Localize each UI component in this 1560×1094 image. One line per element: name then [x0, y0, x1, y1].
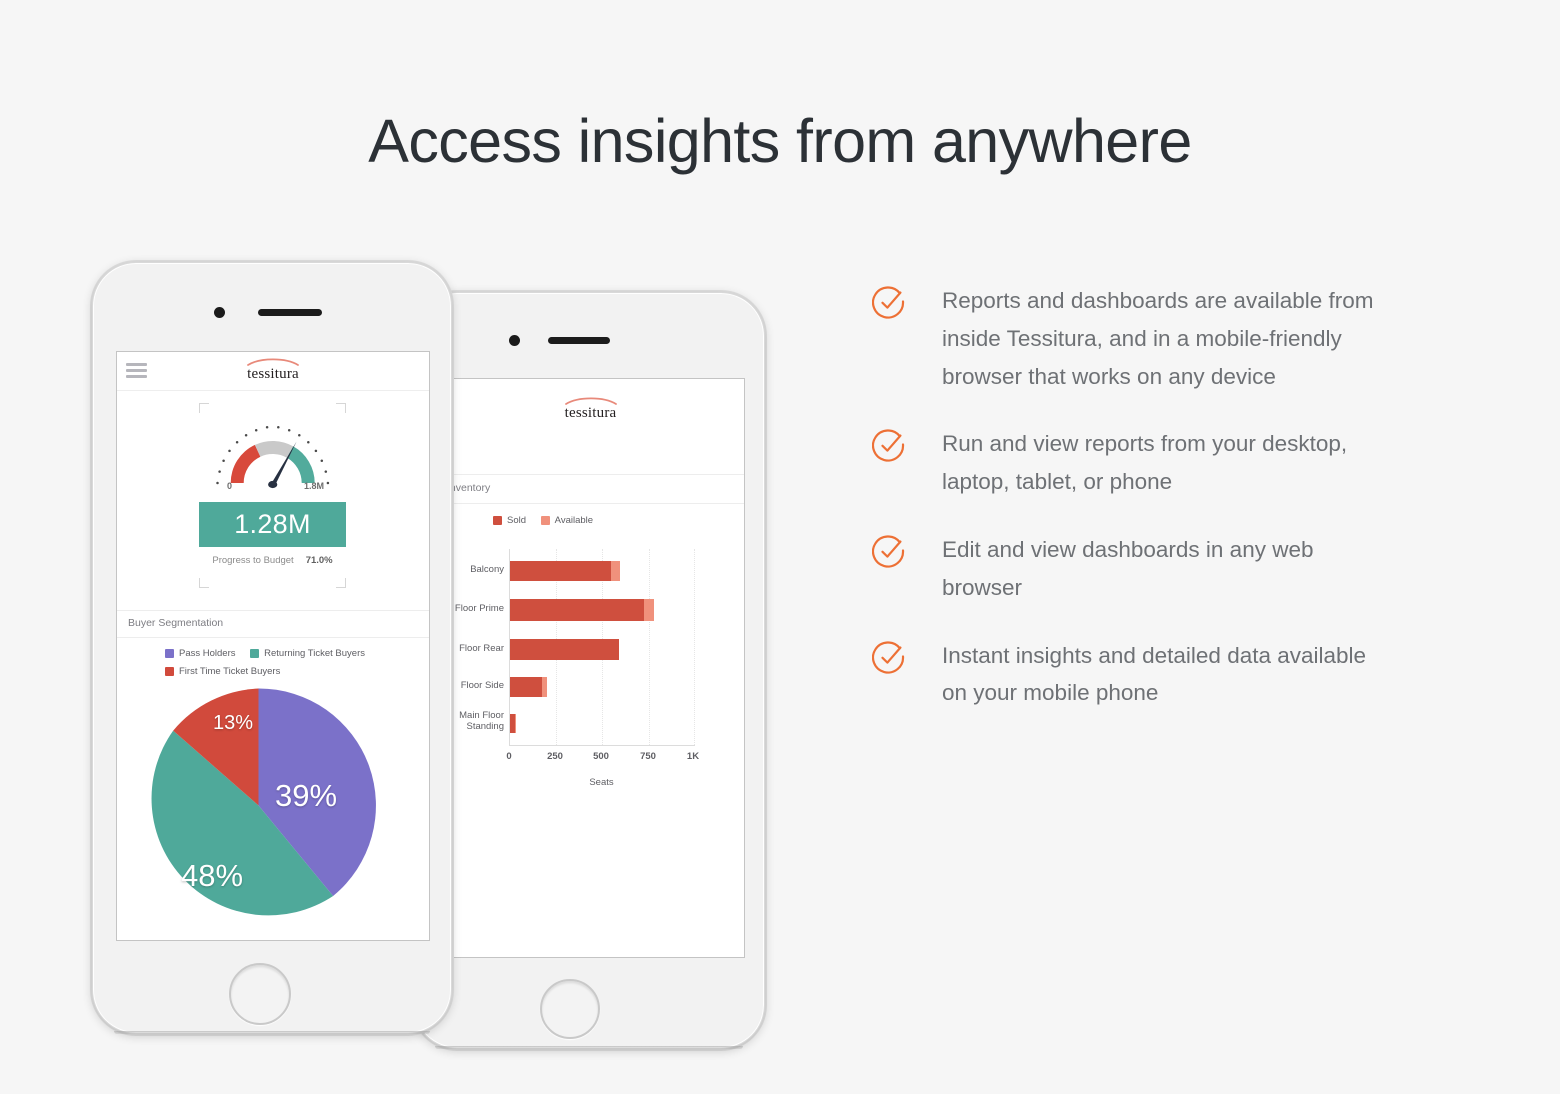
check-circle-icon — [872, 535, 908, 574]
legend-swatch-pass-holders — [165, 649, 174, 658]
bar-seg-floor-side-available — [542, 677, 547, 697]
earpiece-speaker-icon — [548, 337, 610, 344]
segmentation-panel-title: Buyer Segmentation — [128, 617, 223, 629]
kpi-gauge-card[interactable]: 0 1.8M 1.28M Progress to Budget 71.0% — [199, 403, 346, 588]
bar-seg-balcony-sold — [510, 561, 611, 581]
inventory-panel-title: Inventory — [447, 482, 490, 494]
legend-item-pass-holders: Pass Holders — [165, 646, 236, 662]
legend-item-returning-ticket-buyers: Returning Ticket Buyers — [250, 646, 365, 662]
buyer-segmentation-pie-chart: 39% 48% 13% — [141, 688, 376, 923]
bar-seg-floor-rear-sold — [510, 639, 619, 660]
bar-row-balcony: Balcony — [510, 561, 620, 581]
bar-chart-legend: Sold Available — [493, 515, 605, 528]
x-tick-750: 750 — [640, 751, 656, 762]
list-item: Reports and dashboards are available fro… — [872, 282, 1392, 395]
brand-logo-text-back: tessitura — [565, 405, 617, 421]
legend-swatch-sold — [493, 516, 502, 525]
list-item: Edit and view dashboards in any web brow… — [872, 531, 1392, 607]
inventory-panel-header: Inventory — [437, 474, 744, 504]
legend-item-sold: Sold — [493, 515, 526, 526]
app-top-bar: tessitura — [117, 352, 429, 391]
bar-label-floor-side: Floor Side — [461, 681, 504, 692]
feature-bullet-list: Reports and dashboards are available fro… — [872, 282, 1392, 742]
legend-swatch-available — [541, 516, 550, 525]
x-tick-500: 500 — [593, 751, 609, 762]
pie-chart-legend: Pass Holders Returning Ticket Buyers Fir… — [165, 646, 415, 682]
phone-device-front: tessitura — [92, 262, 452, 1034]
card-corner-bottom-left — [199, 578, 209, 588]
legend-label-returning-ticket-buyers: Returning Ticket Buyers — [264, 646, 365, 662]
phone-device-back: tessitura Inventory Sold Available — [413, 292, 765, 1049]
check-circle-icon — [872, 641, 908, 680]
pie-svg — [141, 688, 376, 923]
home-button-back[interactable] — [540, 979, 600, 1039]
gridline-750 — [649, 549, 651, 745]
bar-seg-floor-side-sold — [510, 677, 542, 697]
home-button-front[interactable] — [229, 963, 291, 1025]
bar-seg-balcony-available — [611, 561, 620, 581]
bar-row-floor-prime: Floor Prime — [510, 599, 654, 621]
list-item: Instant insights and detailed data avail… — [872, 637, 1392, 713]
legend-label-pass-holders: Pass Holders — [179, 646, 236, 662]
card-corner-bottom-right — [336, 578, 346, 588]
legend-swatch-returning-ticket-buyers — [250, 649, 259, 658]
x-axis-title: Seats — [509, 777, 694, 788]
phone-screen-back: tessitura Inventory Sold Available — [436, 378, 745, 958]
legend-item-available: Available — [541, 515, 593, 526]
list-item-label: Run and view reports from your desktop, … — [942, 425, 1392, 501]
x-tick-0: 0 — [506, 751, 511, 762]
bar-label-floor-rear: Floor Rear — [459, 644, 504, 655]
legend-label-available: Available — [555, 515, 593, 526]
x-tick-1000: 1K — [687, 751, 699, 762]
x-axis-ticks: 0 250 500 750 1K — [509, 751, 694, 765]
kpi-value-banner: 1.28M — [199, 502, 346, 547]
gauge-band-gray — [255, 441, 293, 458]
gauge-needle-hub — [268, 481, 277, 488]
inventory-bar-chart: Balcony Floor Prime Floor Rear — [437, 541, 744, 791]
brand-logo-front: tessitura — [117, 352, 429, 382]
kpi-footer-percent: 71.0% — [306, 555, 333, 566]
x-tick-250: 250 — [547, 751, 563, 762]
plot-area: Balcony Floor Prime Floor Rear — [509, 549, 695, 746]
brand-logo-text-front: tessitura — [247, 366, 299, 382]
segmentation-panel-header: Buyer Segmentation — [117, 610, 429, 638]
logo-arc-icon-front — [246, 357, 300, 366]
bar-row-floor-rear: Floor Rear — [510, 639, 619, 660]
logo-arc-icon — [564, 396, 618, 405]
earpiece-speaker-icon-front — [258, 309, 322, 316]
check-circle-icon — [872, 429, 908, 468]
bar-label-floor-prime: Floor Prime — [455, 604, 504, 615]
bar-seg-floor-prime-available — [644, 599, 654, 621]
gauge-max-label: 1.8M — [304, 481, 324, 491]
bar-row-main-floor-standing: Main Floor Standing — [510, 714, 517, 733]
legend-item-first-time-ticket-buyers: First Time Ticket Buyers — [165, 664, 280, 680]
bar-seg-floor-prime-sold — [510, 599, 644, 621]
list-item-label: Edit and view dashboards in any web brow… — [942, 531, 1392, 607]
gauge-band-red — [231, 445, 261, 483]
check-circle-icon — [872, 286, 908, 325]
phone-screen-front: tessitura — [116, 351, 430, 941]
front-camera-icon-front — [214, 307, 225, 318]
front-camera-icon — [509, 335, 520, 346]
kpi-footer: Progress to Budget 71.0% — [199, 555, 346, 566]
list-item: Run and view reports from your desktop, … — [872, 425, 1392, 501]
list-item-label: Reports and dashboards are available fro… — [942, 282, 1392, 395]
bar-row-floor-side: Floor Side — [510, 677, 547, 697]
legend-label-sold: Sold — [507, 515, 526, 526]
gridline-1000 — [694, 549, 696, 745]
kpi-footer-label: Progress to Budget — [212, 555, 293, 566]
brand-logo-back: tessitura — [437, 379, 744, 421]
legend-swatch-first-time-ticket-buyers — [165, 667, 174, 676]
gauge-min-label: 0 — [227, 481, 232, 491]
bar-label-balcony: Balcony — [470, 565, 504, 576]
list-item-label: Instant insights and detailed data avail… — [942, 637, 1392, 713]
page-title: Access insights from anywhere — [0, 108, 1560, 175]
bar-seg-main-floor-standing-available — [515, 714, 516, 733]
legend-label-first-time-ticket-buyers: First Time Ticket Buyers — [179, 664, 280, 680]
